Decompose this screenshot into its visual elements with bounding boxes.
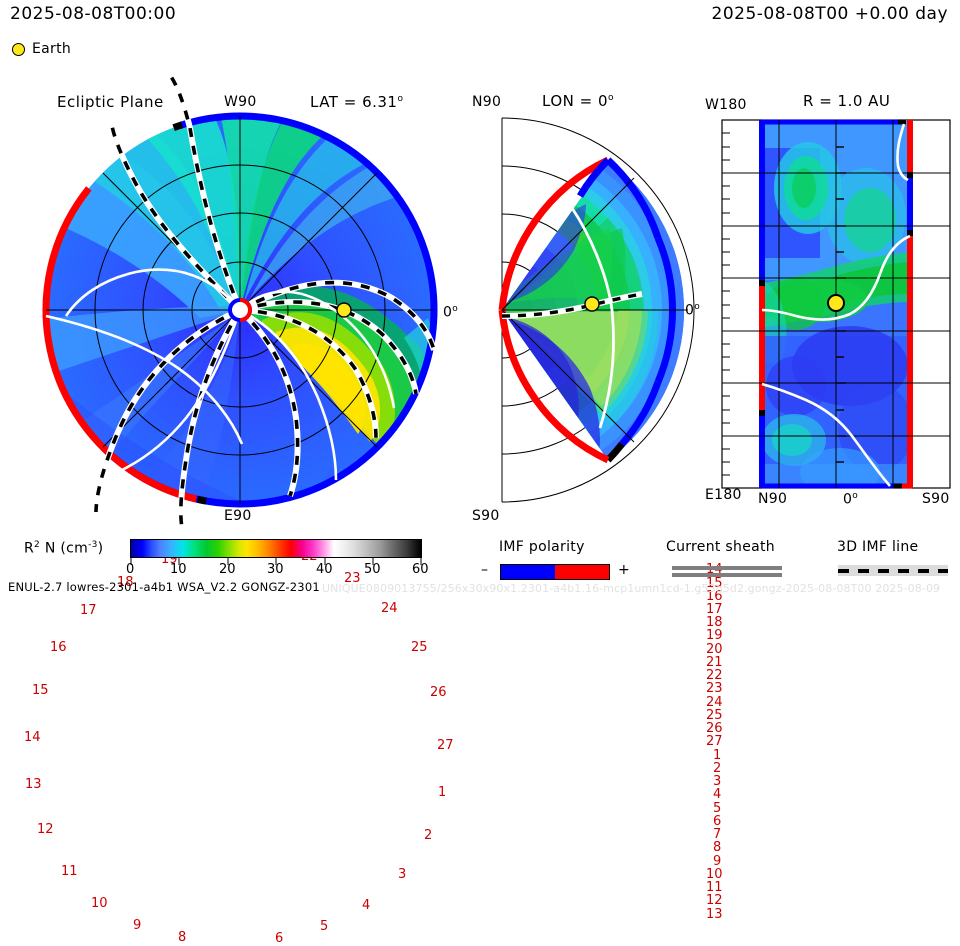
radial-row-label-21: 21 [706, 656, 723, 669]
radial-row-label-7: 7 [713, 828, 721, 841]
radial-xaxis-label-s90: S90 [922, 492, 950, 506]
radial-row-label-22: 22 [706, 669, 723, 682]
carrington-label-9: 9 [133, 919, 141, 932]
earth-legend: Earth [12, 41, 192, 61]
radial-shell-plot[interactable] [700, 88, 960, 538]
imf-polarity-minus: – [481, 563, 488, 577]
lon-value: LON = 0 [542, 92, 608, 110]
imf-polarity-title: IMF polarity [499, 540, 585, 554]
radial-row-label-20: 20 [706, 643, 723, 656]
carrington-label-3: 3 [398, 868, 406, 881]
current-sheath-line-lower [672, 573, 782, 577]
ecliptic-plane-panel[interactable]: Ecliptic Plane LAT = 6.31o W90 E90 0o [0, 88, 470, 528]
meridional-axis-label-n90: N90 [472, 95, 501, 109]
radial-row-label-19: 19 [706, 629, 723, 642]
carrington-label-12: 12 [37, 823, 54, 836]
zero-degree-symbol: o [452, 304, 458, 314]
radial-xaxis-label-zero: 0o [843, 492, 858, 507]
meridional-plane-plot[interactable] [462, 88, 702, 538]
radial-axis-label-w180: W180 [705, 98, 747, 112]
radial-row-label-1: 1 [713, 749, 721, 762]
imf-polarity-legend: IMF polarity – + [455, 540, 635, 580]
radial-row-label-6: 6 [713, 815, 721, 828]
radial-row-label-3: 3 [713, 775, 721, 788]
radial-row-label-4: 4 [713, 788, 721, 801]
carrington-label-5: 5 [320, 920, 328, 933]
colorbar-label-r: R [24, 541, 34, 557]
zero-value: 0 [685, 303, 694, 319]
ecliptic-lat-readout: LAT = 6.31o [310, 95, 403, 110]
radial-shell-panel[interactable]: W180 R = 1.0 AU E180 N90 0o S90 [700, 88, 960, 538]
current-sheath-title: Current sheath [666, 540, 775, 554]
earth-legend-label: Earth [32, 42, 71, 56]
carrington-label-11: 11 [61, 865, 78, 878]
colorbar-label-close: ) [98, 541, 104, 557]
carrington-label-4: 4 [362, 899, 370, 912]
carrington-label-10: 10 [91, 897, 108, 910]
colorbar-tick-30: 30 [267, 563, 284, 576]
carrington-label-16: 16 [50, 641, 67, 654]
zero-degree-symbol: o [852, 491, 858, 501]
carrington-label-17: 17 [80, 604, 97, 617]
radial-row-label-13: 13 [706, 908, 723, 921]
lat-degree-symbol: o [397, 94, 403, 104]
colorbar-label-units: N (cm [45, 541, 88, 557]
colorbar-gradient[interactable] [130, 539, 422, 558]
radial-row-label-17: 17 [706, 603, 723, 616]
current-sheath-line-upper [672, 566, 782, 570]
radial-row-label-10: 10 [706, 868, 723, 881]
ecliptic-axis-label-e90: E90 [224, 509, 252, 523]
radial-row-label-5: 5 [713, 802, 721, 815]
ecliptic-axis-label-zero: 0o [443, 305, 458, 320]
zero-value: 0 [843, 492, 852, 508]
carrington-label-24: 24 [381, 602, 398, 615]
radial-left-ticks [722, 133, 730, 475]
colorbar-tick-20: 20 [219, 563, 236, 576]
imf-polarity-swatch [500, 564, 610, 580]
meridional-panel-title: LON = 0o [542, 94, 614, 109]
earth-marker [828, 295, 844, 311]
earth-marker [585, 297, 599, 311]
radial-row-label-9: 9 [713, 855, 721, 868]
colorbar-label: R2 N (cm-3) [24, 541, 103, 556]
radial-row-label-23: 23 [706, 682, 723, 695]
carrington-label-6: 6 [275, 932, 283, 945]
density-colorbar[interactable]: R2 N (cm-3) 0 10 20 30 40 50 60 [12, 536, 432, 582]
colorbar-label-unit-exp: -3 [88, 540, 98, 550]
radial-row-label-27: 27 [706, 735, 723, 748]
radial-xaxis-label-n90: N90 [758, 492, 787, 506]
carrington-label-25: 25 [411, 641, 428, 654]
radial-row-label-8: 8 [713, 841, 721, 854]
imf-polarity-plus: + [618, 563, 630, 577]
carrington-label-2: 2 [424, 829, 432, 842]
carrington-label-1: 1 [438, 786, 446, 799]
radial-row-label-24: 24 [706, 696, 723, 709]
ecliptic-axis-label-w90: W90 [224, 95, 257, 109]
colorbar-tick-0: 0 [126, 563, 134, 576]
carrington-label-13: 13 [25, 778, 42, 791]
carrington-label-14: 14 [24, 731, 41, 744]
radial-row-label-12: 12 [706, 894, 723, 907]
sun-marker [228, 298, 252, 322]
ecliptic-plane-plot[interactable] [0, 88, 470, 528]
header-datetime-left: 2025-08-08T00:00 [10, 6, 176, 23]
radial-panel-title: R = 1.0 AU [803, 94, 890, 109]
current-sheath-legend: Current sheath [660, 540, 795, 580]
colorbar-tick-40: 40 [316, 563, 333, 576]
colorbar-label-exponent: 2 [34, 540, 40, 550]
radial-row-label-26: 26 [706, 722, 723, 735]
radial-row-label-18: 18 [706, 616, 723, 629]
ecliptic-panel-title: Ecliptic Plane [57, 95, 164, 110]
meridional-axis-label-s90: S90 [472, 509, 500, 523]
colorbar-tick-50: 50 [364, 563, 381, 576]
imf-line-3d-dashes [838, 569, 948, 573]
carrington-label-27: 27 [437, 739, 454, 752]
meridional-axis-label-zero: 0o [685, 303, 700, 318]
carrington-label-15: 15 [32, 684, 49, 697]
imf-line-3d-legend: 3D IMF line [835, 540, 960, 580]
imf-line-3d-halo [838, 565, 948, 576]
earth-dot-icon [12, 43, 25, 56]
radial-axis-label-e180: E180 [705, 488, 742, 502]
lat-value: LAT = 6.31 [310, 93, 397, 111]
meridional-plane-panel[interactable]: N90 LON = 0o S90 0o [462, 88, 702, 538]
zero-value: 0 [443, 305, 452, 321]
footer-model-info: ENUL-2.7 lowres-2301-a4b1 WSA_V2.2 GONGZ… [8, 582, 320, 594]
footer-watermark: UNIQUE0809013755/256x30x90x1.2301-a4b1.1… [322, 583, 940, 594]
colorbar-tick-10: 10 [170, 563, 187, 576]
header-datetime-right: 2025-08-08T00 +0.00 day [712, 6, 948, 23]
radial-row-label-2: 2 [713, 762, 721, 775]
colorbar-tick-60: 60 [412, 563, 429, 576]
lon-degree-symbol: o [608, 93, 614, 103]
carrington-label-8: 8 [178, 931, 186, 944]
earth-marker [337, 303, 351, 317]
imf-line-3d-title: 3D IMF line [837, 540, 918, 554]
radial-row-label-25: 25 [706, 709, 723, 722]
carrington-label-26: 26 [430, 686, 447, 699]
imf-polarity-negative-swatch [501, 565, 555, 579]
radial-row-label-11: 11 [706, 881, 723, 894]
imf-polarity-positive-swatch [555, 565, 609, 579]
